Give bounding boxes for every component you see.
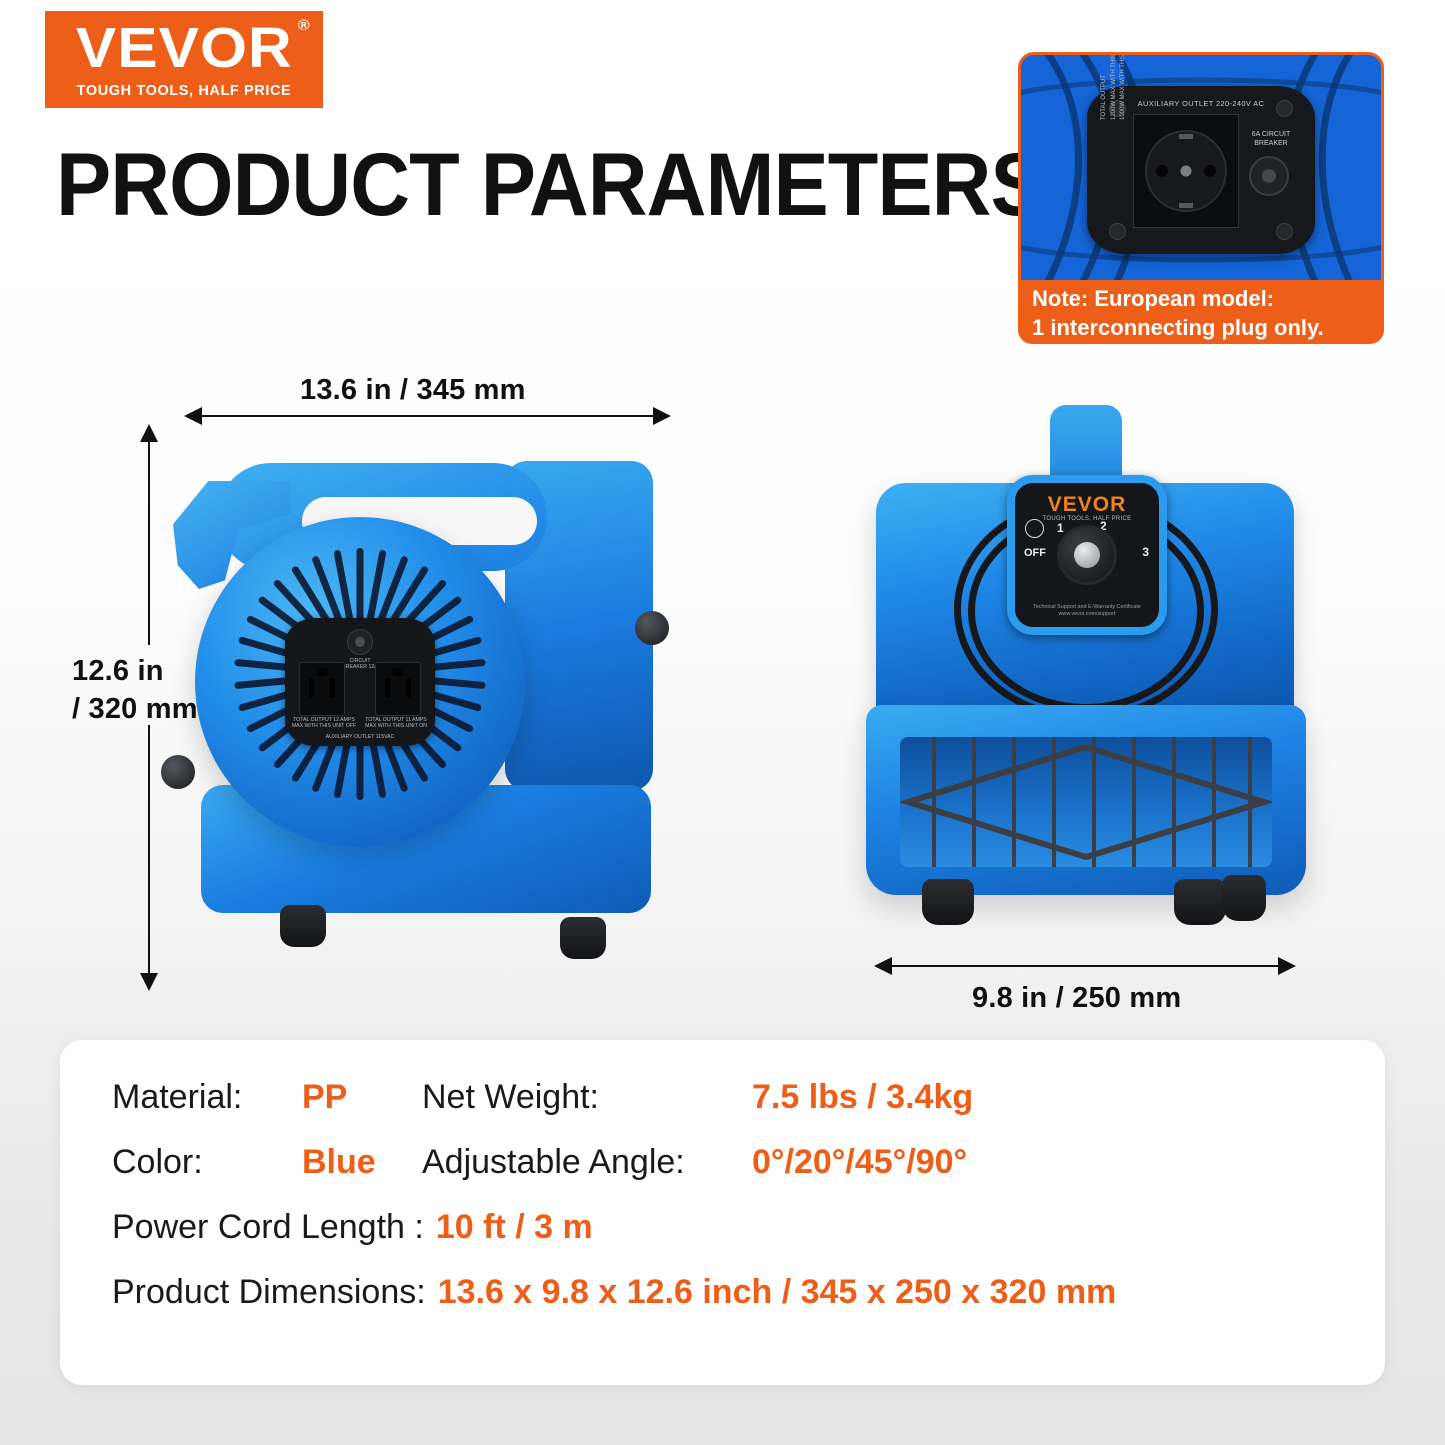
brand-tagline: TOUGH TOOLS, HALF PRICE <box>77 83 292 99</box>
nema-outlet-left <box>299 662 345 716</box>
total-output-line: 1200W MAX WITH THIS OFF <box>1111 52 1118 120</box>
height-dimension-arrow-upper <box>148 440 150 645</box>
circuit-breaker-label: 6A CIRCUIT BREAKER <box>1240 130 1302 148</box>
speed-selector-knob[interactable] <box>1057 525 1117 585</box>
right-outlet-rating: TOTAL OUTPUT 11 AMPS MAX WITH THIS UNIT … <box>361 717 431 730</box>
lower-housing <box>866 705 1306 895</box>
specifications-card: Material: PP Net Weight: 7.5 lbs / 3.4kg… <box>60 1040 1385 1385</box>
rubber-foot <box>1222 875 1266 921</box>
product-image-side-view: CIRCUIT BREAKER 12A TOTAL OUTPUT 12 AMPS… <box>175 455 675 975</box>
panel-brand-logo: VEVOR <box>1015 494 1159 515</box>
support-line-2: www.vevor.com/support <box>1015 611 1159 618</box>
spec-row: Material: PP Net Weight: 7.5 lbs / 3.4kg <box>112 1078 1352 1117</box>
socket-hole-icon <box>1204 165 1216 177</box>
spec-key: Power Cord Length : <box>112 1208 424 1247</box>
air-outlet-grille <box>900 737 1272 867</box>
socket-recess <box>1145 130 1227 212</box>
rubber-foot <box>922 879 974 925</box>
rubber-foot <box>1174 879 1226 925</box>
fan-icon <box>1025 519 1044 538</box>
spec-value: 10 ft / 3 m <box>436 1208 593 1247</box>
page-title: PRODUCT PARAMETERS <box>56 140 1045 229</box>
spec-key: Color: <box>112 1143 302 1182</box>
height-dimension-arrow-lower <box>148 725 150 975</box>
earth-clip-icon <box>1179 134 1193 139</box>
us-outlet-control-panel: CIRCUIT BREAKER 12A TOTAL OUTPUT 12 AMPS… <box>285 618 435 746</box>
circuit-breaker-button[interactable] <box>347 629 373 655</box>
nema-outlet-right <box>375 662 421 716</box>
diamond-guard-icon <box>900 737 1272 867</box>
tilt-knob[interactable] <box>635 611 669 645</box>
auxiliary-outlet-plate: AUXILIARY OUTLET 220-240V AC TOTAL OUTPU… <box>1087 86 1315 254</box>
spec-key: Net Weight: <box>422 1078 752 1117</box>
speed-3-label: 3 <box>1142 545 1149 559</box>
spec-value: 7.5 lbs / 3.4kg <box>752 1078 973 1117</box>
brand-wordmark: VEVOR ® <box>76 20 293 77</box>
width-dimension-arrow <box>200 415 655 417</box>
spec-value: PP <box>302 1078 347 1117</box>
speed-1-label: 1 <box>1057 521 1064 535</box>
breaker-line-2: BREAKER 12A <box>342 664 377 670</box>
european-model-note: Note: European model: 1 interconnecting … <box>1018 280 1384 344</box>
spec-value: 13.6 x 9.8 x 12.6 inch / 345 x 250 x 320… <box>438 1273 1117 1312</box>
total-output-vertical-label: TOTAL OUTPUT 1200W MAX WITH THIS OFF 100… <box>1101 52 1117 120</box>
spec-key: Adjustable Angle: <box>422 1143 752 1182</box>
brand-name: VEVOR <box>76 16 293 80</box>
speed-off-label: OFF <box>1024 547 1046 559</box>
brand-logo: VEVOR ® TOUGH TOOLS, HALF PRICE <box>45 11 323 108</box>
spec-net-weight: Net Weight: 7.5 lbs / 3.4kg <box>422 1078 973 1117</box>
spec-power-cord-length: Power Cord Length : 10 ft / 3 m <box>112 1208 1352 1247</box>
spec-product-dimensions: Product Dimensions: 13.6 x 9.8 x 12.6 in… <box>112 1273 1352 1312</box>
spec-adjustable-angle: Adjustable Angle: 0°/20°/45°/90° <box>422 1143 967 1182</box>
spec-key: Material: <box>112 1078 302 1117</box>
tilt-knob[interactable] <box>161 755 195 789</box>
socket-screw-icon <box>1181 166 1192 177</box>
schuko-socket-icon <box>1133 114 1239 228</box>
circuit-breaker-label: CIRCUIT BREAKER 12A <box>342 658 377 671</box>
registered-trademark-icon: ® <box>298 18 311 33</box>
depth-dimension-label: 9.8 in / 250 mm <box>972 982 1181 1015</box>
socket-hole-icon <box>1156 165 1168 177</box>
support-text: Technical Support and E-Warranty Certifi… <box>1015 604 1159 618</box>
total-output-line: 1000W MAX WITH THIS UNIT ON <box>1120 52 1127 120</box>
spec-row: Color: Blue Adjustable Angle: 0°/20°/45°… <box>112 1143 1352 1182</box>
spec-material: Material: PP <box>112 1078 422 1117</box>
control-panel[interactable]: VEVOR TOUGH TOOLS, HALF PRICE OFF 1 2 3 … <box>1007 475 1167 635</box>
product-image-front-view: VEVOR TOUGH TOOLS, HALF PRICE OFF 1 2 3 … <box>862 405 1312 965</box>
depth-dimension-arrow <box>890 965 1280 967</box>
european-outlet-inset-photo: AUXILIARY OUTLET 220-240V AC TOTAL OUTPU… <box>1018 52 1384 288</box>
spec-value: Blue <box>302 1143 376 1182</box>
earth-clip-icon <box>1179 203 1193 208</box>
spec-value: 0°/20°/45°/90° <box>752 1143 967 1182</box>
width-dimension-label: 13.6 in / 345 mm <box>300 374 526 407</box>
support-line-1: Technical Support and E-Warranty Certifi… <box>1015 604 1159 611</box>
plate-screw-icon <box>1276 223 1293 240</box>
rubber-foot <box>280 905 326 947</box>
specifications-grid: Material: PP Net Weight: 7.5 lbs / 3.4kg… <box>112 1078 1352 1338</box>
plate-screw-icon <box>1109 223 1126 240</box>
spec-key: Product Dimensions: <box>112 1273 426 1312</box>
circuit-breaker-button[interactable] <box>1249 156 1289 196</box>
total-output-line: TOTAL OUTPUT <box>1101 52 1108 120</box>
spec-color: Color: Blue <box>112 1143 422 1182</box>
right-rating-line-2: MAX WITH THIS UNIT ON <box>361 723 431 729</box>
note-line-2: 1 interconnecting plug only. <box>1032 313 1384 342</box>
note-line-1: Note: European model: <box>1032 284 1384 313</box>
blower-housing: CIRCUIT BREAKER 12A TOTAL OUTPUT 12 AMPS… <box>195 517 525 847</box>
left-rating-line-2: MAX WITH THIS UNIT OFF <box>289 723 359 729</box>
auxiliary-outlet-label: AUXILIARY OUTLET 115VAC <box>326 734 395 740</box>
left-outlet-rating: TOTAL OUTPUT 12 AMPS MAX WITH THIS UNIT … <box>289 717 359 730</box>
rubber-foot <box>560 917 606 959</box>
